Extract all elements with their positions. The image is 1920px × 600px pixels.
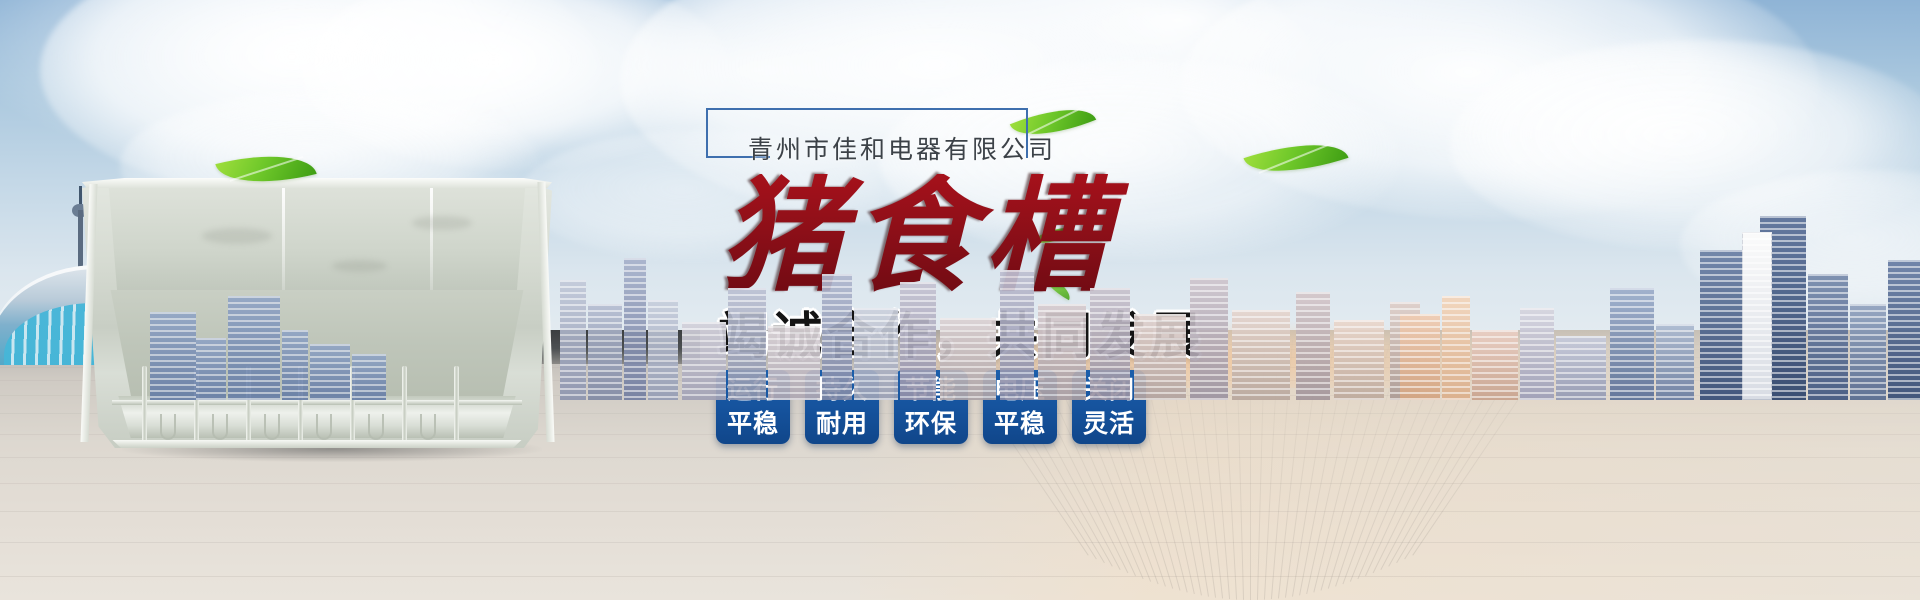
building xyxy=(1472,330,1518,400)
trough-inner-wall xyxy=(100,186,534,294)
building xyxy=(282,330,308,400)
building xyxy=(1232,310,1290,400)
building xyxy=(648,300,678,400)
building xyxy=(1134,314,1186,400)
building xyxy=(1610,288,1654,400)
surface-smudge xyxy=(332,260,387,272)
trough-hook xyxy=(264,414,280,440)
surface-smudge xyxy=(412,216,472,230)
building xyxy=(1000,270,1034,400)
badge-line-2: 耐用 xyxy=(816,407,868,441)
building xyxy=(682,322,726,400)
building xyxy=(352,354,386,400)
trough-hook xyxy=(212,414,228,440)
building xyxy=(1296,292,1330,400)
surface-smudge xyxy=(202,228,272,244)
building xyxy=(1190,278,1228,400)
building xyxy=(310,344,350,400)
trough-hook xyxy=(368,414,384,440)
building xyxy=(728,288,766,400)
company-name: 青州市佳和电器有限公司 xyxy=(748,130,1108,166)
building xyxy=(940,318,996,400)
building xyxy=(1442,296,1470,400)
trough-bottom-rail xyxy=(104,440,530,448)
trough-divider xyxy=(142,366,147,448)
badge-line-2: 平稳 xyxy=(994,407,1046,441)
building xyxy=(1742,232,1772,400)
building xyxy=(1400,314,1440,400)
trough-divider xyxy=(454,366,459,448)
building xyxy=(228,296,280,400)
building xyxy=(1850,304,1886,400)
building xyxy=(588,304,622,400)
trough-divider xyxy=(402,366,407,448)
trough-seam xyxy=(430,186,433,292)
badge-line-2: 环保 xyxy=(905,407,957,441)
building xyxy=(1656,324,1694,400)
building xyxy=(1556,336,1606,400)
trough-rail xyxy=(112,400,522,405)
building xyxy=(624,258,646,400)
building xyxy=(196,338,226,400)
trough-hook xyxy=(316,414,332,440)
main-title: 猪食槽 xyxy=(720,174,1190,304)
building xyxy=(854,308,898,400)
trough-hook xyxy=(420,414,436,440)
building xyxy=(900,282,936,400)
badge-line-2: 灵活 xyxy=(1083,407,1135,441)
pavement-line xyxy=(0,576,1920,577)
trough-top-rim xyxy=(82,178,552,188)
building xyxy=(1520,308,1554,400)
promotional-banner: 青州市佳和电器有限公司 猪食槽 猪食槽 竭诚合作，共同发展 运行平稳持久耐用节能… xyxy=(0,0,1920,600)
building xyxy=(150,312,196,400)
building xyxy=(1808,274,1848,400)
building xyxy=(1090,288,1130,400)
building xyxy=(1334,320,1384,400)
building xyxy=(768,326,820,400)
building xyxy=(822,274,852,400)
trough-hook xyxy=(160,414,176,440)
building xyxy=(1038,304,1086,400)
building xyxy=(1888,260,1920,400)
trough-seam xyxy=(282,186,285,292)
building xyxy=(560,280,586,400)
badge-line-2: 平稳 xyxy=(727,407,779,441)
